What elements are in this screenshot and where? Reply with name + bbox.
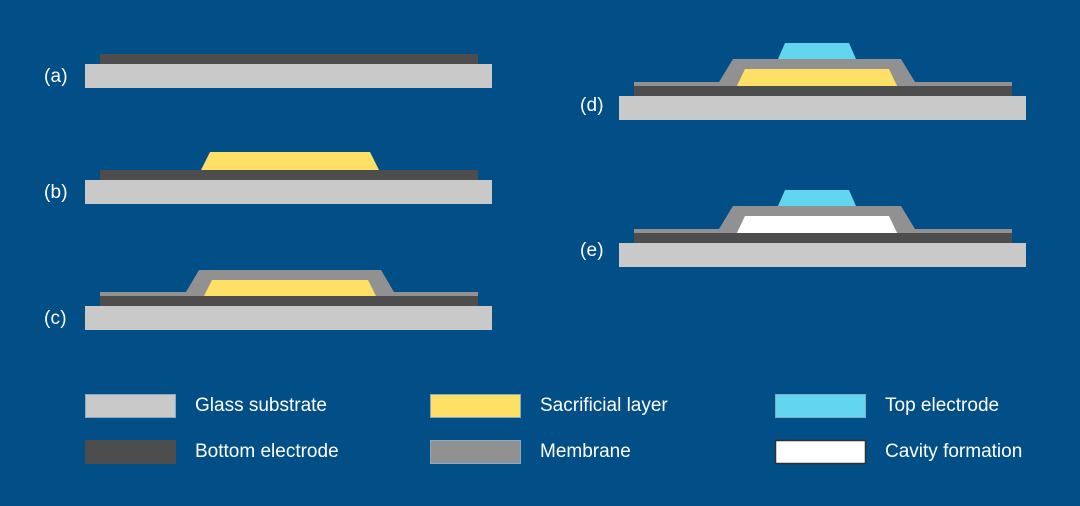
legend-swatch-sacrificial-layer [431,395,521,418]
panel-label-e: (e) [580,240,604,262]
panel-e-glass-substrate [619,243,1026,267]
legend-label-membrane: Membrane [540,441,631,463]
legend-label-top-electrode: Top electrode [885,395,999,417]
legend-label-glass-substrate: Glass substrate [195,395,327,417]
panel-e-bottom-electrode [634,233,1012,243]
panel-label-b: (b) [44,182,68,204]
legend-swatch-top-electrode [776,395,866,418]
fabrication-process-diagram [0,0,1080,506]
legend-item-cavity-formation: Cavity formation [866,440,1022,464]
panel-d-glass-substrate [619,96,1026,120]
legend-item-glass-substrate: Glass substrate [176,394,327,418]
panel-label-a: (a) [44,66,68,88]
legend-swatch-membrane [431,441,521,464]
panel-label-c: (c) [44,308,67,330]
panel-a [85,54,492,88]
panel-b-bottom-electrode [100,170,478,180]
panel-d-bottom-electrode [634,86,1012,96]
panel-d-top-electrode [778,43,856,59]
legend-item-top-electrode: Top electrode [866,394,999,418]
legend-swatch-bottom-electrode [85,440,176,464]
legend-swatch-cavity-formation [776,441,866,464]
panel-a-glass-substrate [85,64,492,88]
panel-c-bottom-electrode [100,296,478,306]
legend-item-sacrificial-layer: Sacrificial layer [521,394,668,418]
panel-c-glass-substrate [85,306,492,330]
panel-label-d: (d) [580,95,604,117]
panel-a-bottom-electrode [100,54,478,64]
panel-b-glass-substrate [85,180,492,204]
panel-e-top-electrode [778,190,856,206]
legend-item-membrane: Membrane [521,440,631,464]
legend-swatch-glass-substrate [86,395,176,418]
legend-item-bottom-electrode: Bottom electrode [176,440,339,464]
legend-label-cavity-formation: Cavity formation [885,441,1022,463]
legend-label-sacrificial-layer: Sacrificial layer [540,395,668,417]
legend-label-bottom-electrode: Bottom electrode [195,441,339,463]
